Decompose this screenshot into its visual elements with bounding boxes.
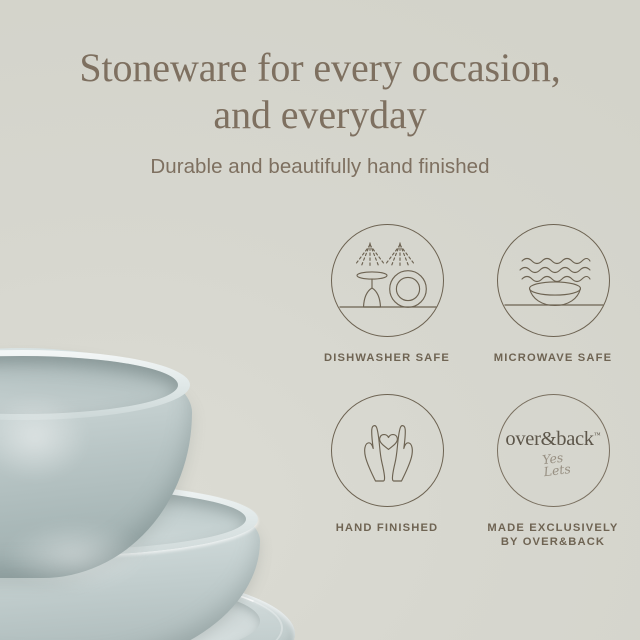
headline-line-2: and everyday [40, 91, 600, 138]
badge-label: DISHWASHER SAFE [312, 351, 462, 366]
trademark-icon: ™ [594, 431, 601, 439]
badge-label: MADE EXCLUSIVELY BY OVER&BACK [478, 521, 628, 550]
brand-tagline-script: Yes Lets [497, 446, 610, 483]
brand-wordmark: over&back™ [498, 428, 609, 451]
badge-microwave-safe: MICROWAVE SAFE [478, 224, 628, 366]
badge-label: MICROWAVE SAFE [478, 351, 628, 366]
headline-block: Stoneware for every occasion, and everyd… [0, 44, 640, 179]
badge-label-line-2: BY OVER&BACK [501, 536, 605, 548]
badge-label-line-1: MADE EXCLUSIVELY [487, 522, 618, 534]
headline-line-1: Stoneware for every occasion, [40, 44, 600, 91]
product-photo [0, 180, 330, 640]
feature-badge-grid: DISHWASHER SAFE [312, 224, 628, 550]
dishwasher-safe-icon [331, 224, 444, 337]
page-title: Stoneware for every occasion, and everyd… [0, 44, 640, 138]
badge-dishwasher-safe: DISHWASHER SAFE [312, 224, 462, 366]
badge-made-exclusively: over&back™ Yes Lets MADE EXCLUSIVELY BY … [478, 394, 628, 550]
badge-label: HAND FINISHED [312, 521, 462, 536]
hand-finished-icon [331, 394, 444, 507]
promo-canvas: Stoneware for every occasion, and everyd… [0, 0, 640, 640]
microwave-safe-icon [497, 224, 610, 337]
subtitle: Durable and beautifully hand finished [0, 155, 640, 179]
over-and-back-logo: over&back™ Yes Lets [497, 394, 610, 507]
brand-wordmark-text: over&back [505, 428, 593, 450]
badge-hand-finished: HAND FINISHED [312, 394, 462, 550]
